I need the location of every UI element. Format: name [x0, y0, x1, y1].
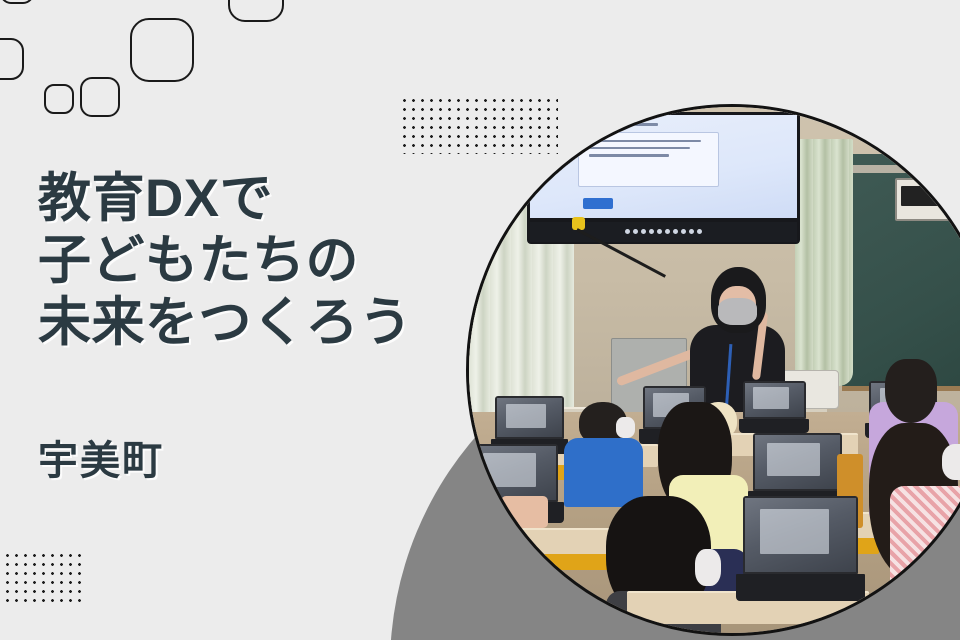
organization-name: 宇美町 [38, 428, 164, 486]
classroom-photo-circle [466, 104, 960, 636]
rounded-square-icon [130, 18, 194, 82]
rounded-square-icon [228, 0, 284, 22]
page-title: 教育DXで 子どもたちの 未来をつくろう [38, 168, 413, 354]
wall-mounted-display [527, 112, 801, 244]
window-curtain-right [795, 139, 853, 386]
digital-clock [895, 178, 952, 221]
rounded-square-icon [0, 0, 34, 4]
poster-canvas: 教育DXで 子どもたちの 未来をつくろう 宇美町 [0, 0, 960, 640]
clock-display [901, 186, 945, 207]
rounded-square-icon [0, 38, 24, 80]
rounded-square-icon [80, 77, 120, 117]
dot-grid-bottom [0, 551, 86, 607]
display-taskbar [530, 222, 798, 242]
face-mask-icon [718, 298, 757, 325]
classroom-photo [469, 107, 960, 633]
rounded-square-icon [44, 84, 74, 114]
display-screen [530, 115, 798, 218]
